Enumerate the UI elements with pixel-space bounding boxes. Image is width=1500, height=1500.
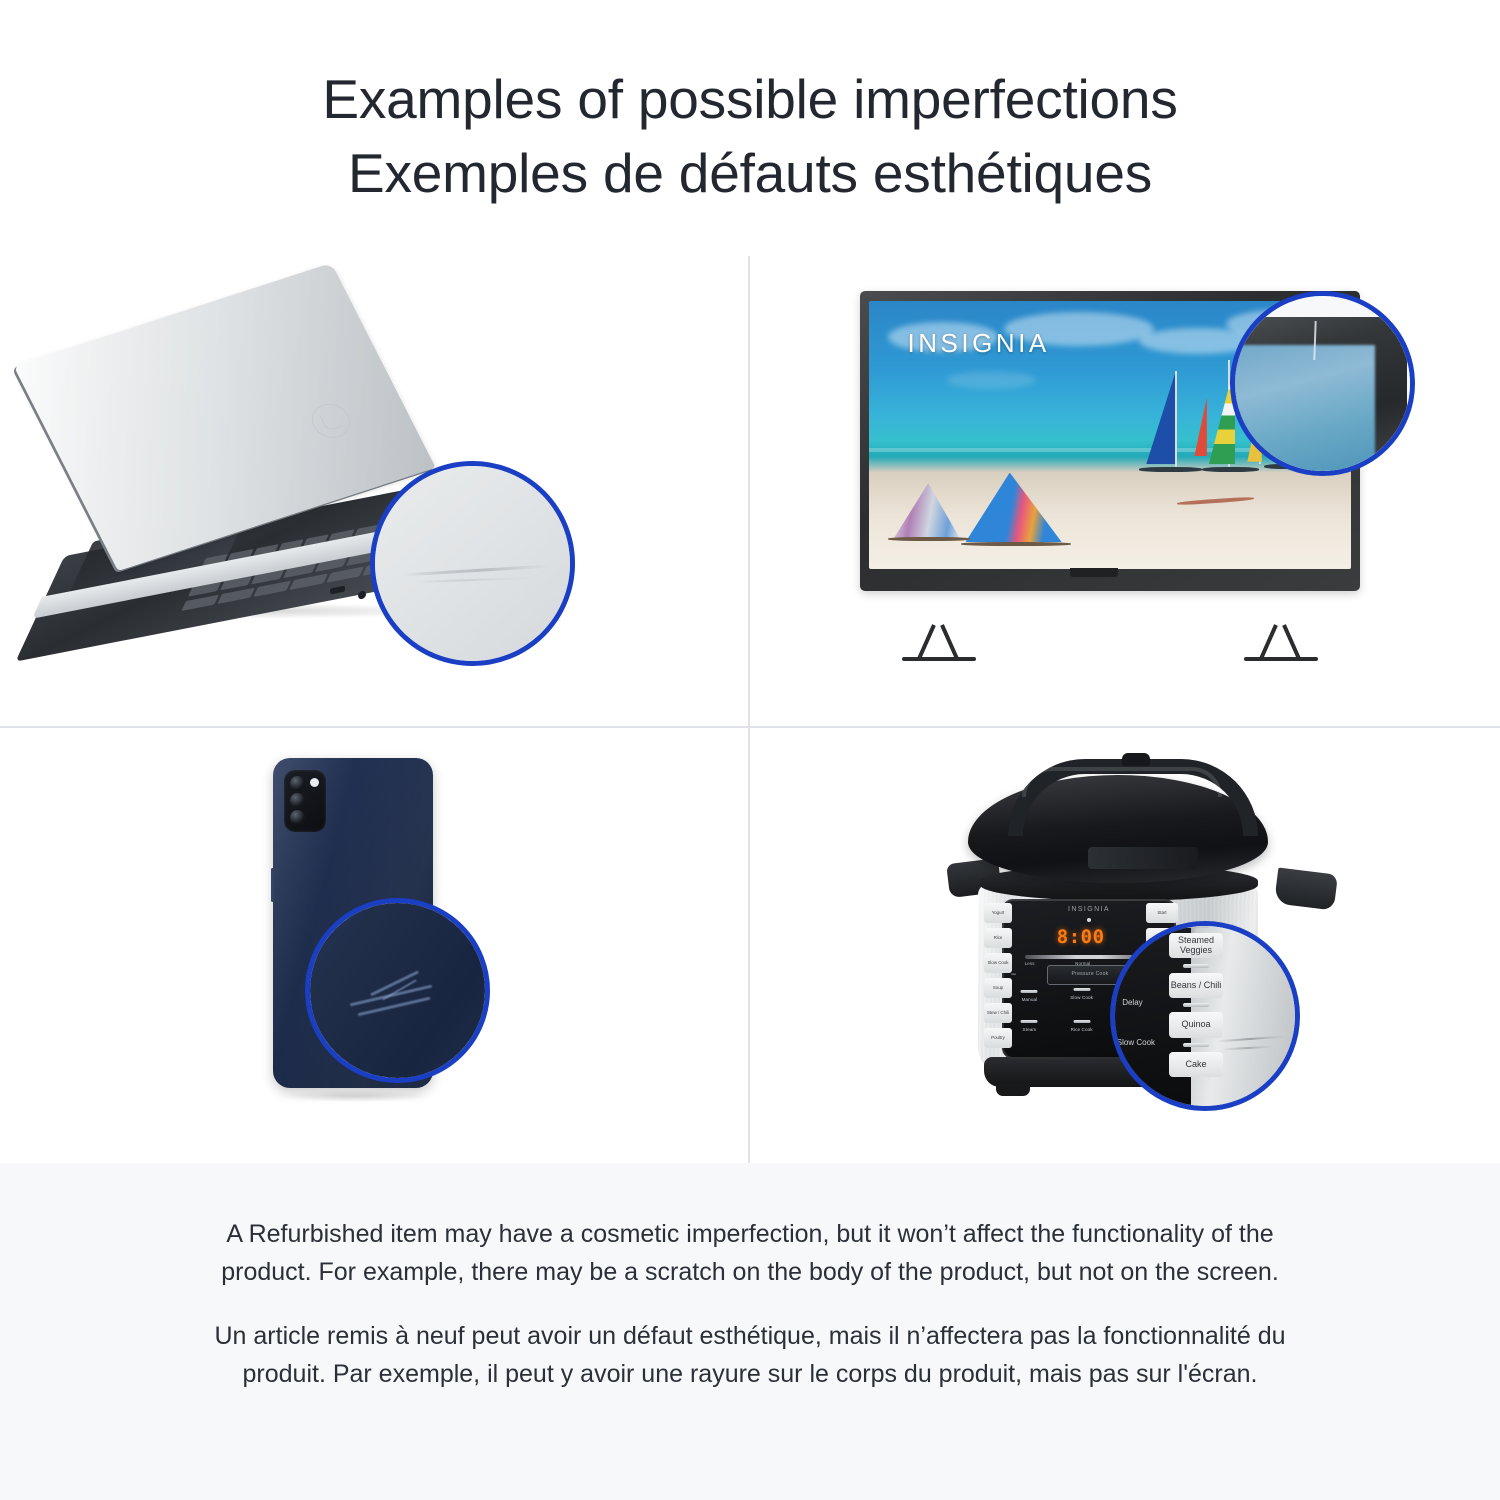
magnifier-button-quinoa: Quinoa — [1169, 1012, 1223, 1037]
magnifier-label-slow-cook: Slow Cook — [1117, 1038, 1155, 1047]
cooker-button-slow-cook[interactable]: Slow Cook — [984, 953, 1012, 973]
magnifier-button-steamed-veggies: Steamed Veggies — [1169, 933, 1223, 958]
product-cell-smartphone — [0, 728, 748, 1163]
cooker-left-button-column: Yogurt Rice Slow Cook Soup Stew / Chili … — [984, 903, 1012, 1055]
cooker-button-start[interactable]: Start — [1146, 903, 1178, 923]
disclaimer-french: Un article remis à neuf peut avoir un dé… — [180, 1317, 1320, 1393]
cooker-foot — [996, 1083, 1030, 1096]
magnifier-laptop — [370, 461, 575, 666]
magnifier-label-delay: Delay — [1122, 998, 1142, 1007]
camera-module-icon — [284, 770, 326, 832]
magnifier-laptop-surface — [375, 466, 570, 661]
camera-lens-icon — [290, 810, 305, 825]
magnifier-button-cake: Cake — [1169, 1052, 1223, 1077]
title-french: Exemples de défauts esthétiques — [348, 136, 1152, 210]
product-cell-television: INSIGNIA — [750, 256, 1500, 726]
cooker-button-manual[interactable]: Manual — [1012, 997, 1046, 1002]
slider-label-low: Less — [1025, 961, 1035, 966]
tv-ir-receiver — [1070, 568, 1118, 577]
pressure-cooker-illustration: INSIGNIA 8:00 Less Normal More − + Press… — [950, 753, 1330, 1143]
camera-flash-icon — [310, 778, 319, 787]
cooker-brand-logo: INSIGNIA — [1068, 906, 1110, 913]
cooker-button-steam[interactable]: Steam — [1012, 1027, 1046, 1032]
imperfections-infographic: Examples of possible imperfections Exemp… — [0, 0, 1500, 1500]
laptop-logo-icon — [306, 399, 357, 442]
cooker-timer-display: 8:00 — [1058, 927, 1104, 947]
camera-lens-icon — [290, 776, 305, 791]
product-grid: INSIGNIA — [0, 256, 1500, 1163]
magnifier-smartphone — [305, 898, 490, 1083]
cooker-pressure-valve — [1122, 753, 1150, 766]
cooker-handle-highlight — [1022, 767, 1222, 797]
smartphone-illustration — [273, 758, 503, 1138]
phone-shadow — [279, 1090, 429, 1102]
cooker-lid-vent — [1088, 847, 1198, 869]
cooker-button-rice-cook[interactable]: Rice Cook — [1065, 1027, 1099, 1032]
tv-brand-logo: INSIGNIA — [908, 328, 1050, 359]
cooker-side-handle-right — [1274, 867, 1338, 910]
footer-disclaimer: A Refurbished item may have a cosmetic i… — [0, 1163, 1500, 1500]
cooker-indicator-light — [1087, 918, 1091, 922]
cooker-button-yogurt[interactable]: Yogurt — [984, 903, 1012, 923]
phone-side-button — [271, 868, 274, 902]
laptop-audio-port — [358, 590, 366, 600]
product-cell-laptop — [0, 256, 748, 726]
magnifier-pressure-cooker: Delay Slow Cook Steamed Veggies Beans / … — [1110, 921, 1300, 1111]
tv-screen-corner-zoom — [1230, 345, 1375, 475]
product-cell-pressure-cooker: INSIGNIA 8:00 Less Normal More − + Press… — [750, 728, 1500, 1163]
page-title: Examples of possible imperfections Exemp… — [0, 0, 1500, 256]
cooker-button-soup[interactable]: Soup — [984, 978, 1012, 998]
title-english: Examples of possible imperfections — [322, 62, 1177, 136]
cooker-button-slow-cook[interactable]: Slow Cook — [1065, 995, 1099, 1000]
magnifier-television — [1230, 291, 1415, 476]
television-illustration: INSIGNIA — [860, 291, 1420, 681]
cooker-button-stew-chili[interactable]: Stew / Chili — [984, 1003, 1012, 1023]
disclaimer-english: A Refurbished item may have a cosmetic i… — [180, 1215, 1320, 1291]
cooker-button-rice[interactable]: Rice — [984, 928, 1012, 948]
laptop-illustration — [40, 341, 560, 631]
tv-stand-leg-left — [900, 591, 978, 627]
camera-lens-icon — [290, 793, 305, 808]
tv-stand-leg-right — [1242, 591, 1320, 627]
cooker-button-poultry[interactable]: Poultry — [984, 1028, 1012, 1048]
magnifier-button-beans-chili: Beans / Chili — [1169, 973, 1223, 998]
